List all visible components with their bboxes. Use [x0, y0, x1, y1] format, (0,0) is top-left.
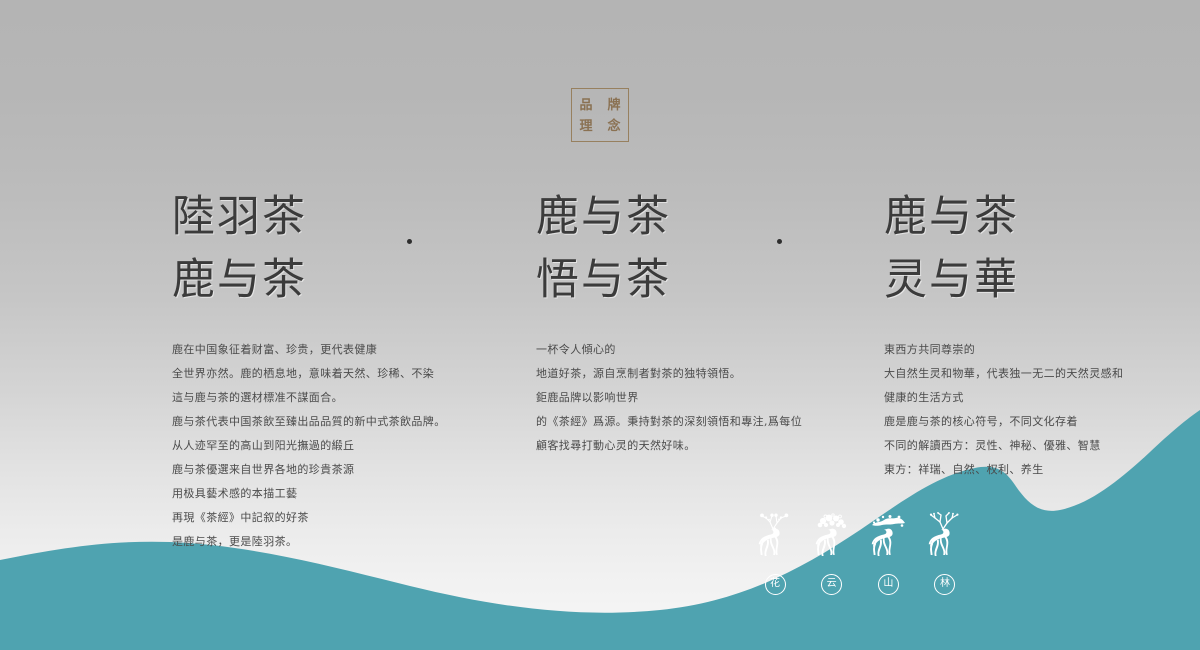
content-column-2: 鹿与茶 悟与茶 一杯令人傾心的 地道好茶，源自烹制者對茶的独特領悟。 鉅鹿品牌以…: [536, 186, 856, 458]
deer-emblem-forest: 林: [922, 512, 968, 595]
body-line: 鹿在中国象征着财富、珍贵，更代表健康: [172, 338, 492, 362]
body-line: 从人迹罕至的高山到阳光撫過的緞丘: [172, 434, 492, 458]
body-line: 是鹿与茶，更是陸羽茶。: [172, 530, 492, 554]
body-line: 東西方共同尊崇的: [884, 338, 1200, 362]
column-2-headline-line-2: 悟与茶: [536, 249, 856, 312]
poster-canvas: 品 牌 理 念 陸羽茶 鹿与茶 鹿在中国象征着财富、珍贵，更代表健康 全世界亦然…: [0, 0, 1200, 650]
body-line: 地道好茶，源自烹制者對茶的独特領悟。: [536, 362, 856, 386]
body-line: 健康的生活方式: [884, 386, 1200, 410]
brandmark-char-1: 品: [572, 95, 600, 116]
content-column-3: 鹿与茶 灵与華 東西方共同尊崇的 大自然生灵和物華，代表独一无二的天然灵感和 健…: [884, 186, 1200, 482]
column-3-headline-line-2: 灵与華: [884, 249, 1200, 312]
column-2-headline-line-1: 鹿与茶: [536, 186, 856, 249]
body-line: 不同的解讀西方：灵性、神秘、優雅、智慧: [884, 434, 1200, 458]
body-line: 的《茶經》爲源。秉持對茶的深刻領悟和專注,爲每位: [536, 410, 856, 434]
brandmark-char-3: 理: [572, 116, 600, 137]
emblem-badge-flower: 花: [765, 574, 786, 595]
emblem-badge-cloud: 云: [821, 574, 842, 595]
body-line: 一杯令人傾心的: [536, 338, 856, 362]
deer-emblem-flower: 花: [752, 512, 798, 595]
column-1-body: 鹿在中国象征着财富、珍贵，更代表健康 全世界亦然。鹿的栖息地，意味着天然、珍稀、…: [172, 338, 492, 554]
body-line: 顧客找尋打動心灵的天然好味。: [536, 434, 856, 458]
emblem-badge-mountain: 山: [878, 574, 899, 595]
column-separator-dot-1: [407, 239, 412, 244]
column-3-body: 東西方共同尊崇的 大自然生灵和物華，代表独一无二的天然灵感和 健康的生活方式 鹿…: [884, 338, 1200, 482]
brand-philosophy-mark: 品 牌 理 念: [571, 88, 629, 142]
body-line: 這与鹿与茶的選材標准不謀面合。: [172, 386, 492, 410]
body-line: 大自然生灵和物華，代表独一无二的天然灵感和: [884, 362, 1200, 386]
body-line: 再現《茶經》中記叙的好茶: [172, 506, 492, 530]
emblem-badge-forest: 林: [934, 574, 955, 595]
body-line: 鹿与茶優選来自世界各地的珍貴茶源: [172, 458, 492, 482]
column-1-headline-line-2: 鹿与茶: [172, 249, 492, 312]
deer-cloud-icon: [810, 512, 854, 568]
body-line: 全世界亦然。鹿的栖息地，意味着天然、珍稀、不染: [172, 362, 492, 386]
deer-flower-icon: [753, 512, 797, 568]
body-line: 鹿是鹿与茶的核心符号，不同文化存着: [884, 410, 1200, 434]
column-separator-dot-2: [777, 239, 782, 244]
column-3-headline-line-1: 鹿与茶: [884, 186, 1200, 249]
body-line: 鹿与茶代表中国茶飲至臻出品品質的新中式茶飲品牌。: [172, 410, 492, 434]
body-line: 用极具藝术感的本描工藝: [172, 482, 492, 506]
brandmark-char-2: 牌: [600, 95, 628, 116]
deer-emblem-cloud: 云: [809, 512, 855, 595]
column-1-headline-line-1: 陸羽茶: [172, 186, 492, 249]
deer-emblem-mountain: 山: [865, 512, 911, 595]
deer-forest-icon: [923, 512, 967, 568]
body-line: 東方：祥瑞、自然、权利、养生: [884, 458, 1200, 482]
body-line: 鉅鹿品牌以影响世界: [536, 386, 856, 410]
deer-emblem-row: 花: [752, 512, 968, 595]
content-column-1: 陸羽茶 鹿与茶 鹿在中国象征着财富、珍贵，更代表健康 全世界亦然。鹿的栖息地，意…: [172, 186, 492, 554]
brandmark-char-4: 念: [600, 116, 628, 137]
column-2-body: 一杯令人傾心的 地道好茶，源自烹制者對茶的独特領悟。 鉅鹿品牌以影响世界 的《茶…: [536, 338, 856, 458]
deer-mountain-icon: [866, 512, 910, 568]
